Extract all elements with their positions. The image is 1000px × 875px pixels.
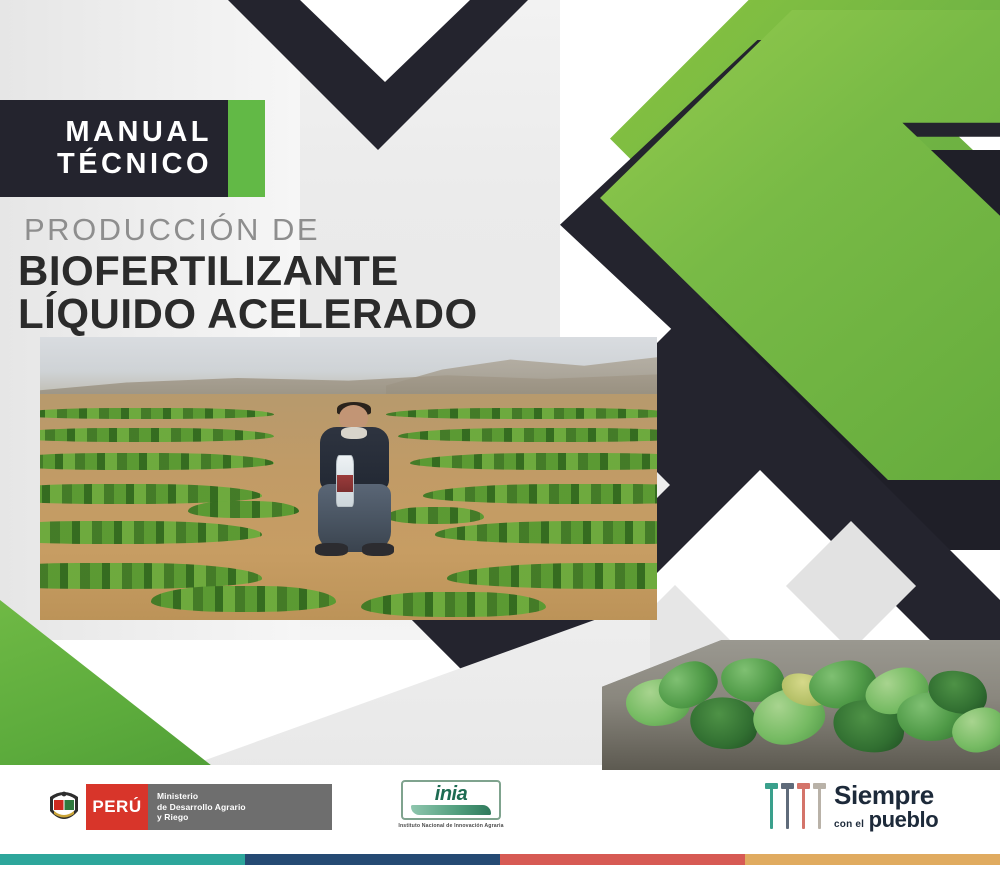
peru-shield-icon	[42, 784, 86, 830]
farmer-collar	[341, 427, 367, 439]
cover-title-block: PRODUCCIÓN DE BIOFERTILIZANTE LÍQUIDO AC…	[18, 214, 478, 335]
ministerio-line-3: y Riego	[157, 812, 332, 822]
crop-row	[151, 586, 336, 611]
siempre-line-1: Siempre	[834, 782, 938, 808]
peru-wordmark: PERÚ	[92, 797, 141, 817]
crop-row	[188, 501, 299, 518]
crop-row	[40, 521, 262, 544]
crop-row	[410, 453, 657, 470]
book-cover: MANUAL TÉCNICO PRODUCCIÓN DE BIOFERTILIZ…	[0, 0, 1000, 875]
logo-siempre-con-el-pueblo: Siempre con el pueblo	[765, 782, 938, 831]
farmer-legs	[318, 484, 391, 552]
bottle-label	[337, 475, 353, 492]
siempre-small-text: con el	[834, 819, 864, 830]
logo-inia: inia Instituto Nacional de Innovación Ag…	[396, 780, 506, 829]
color-rule-segment-gold	[745, 854, 1000, 865]
inia-leaf-icon	[411, 805, 491, 815]
color-rule-segment-red	[500, 854, 745, 865]
field-photo	[40, 337, 657, 620]
badge-dark-panel: MANUAL TÉCNICO	[0, 100, 228, 197]
manual-tecnico-badge: MANUAL TÉCNICO	[0, 100, 265, 197]
farmer-figure	[311, 405, 397, 552]
crop-row	[40, 563, 262, 588]
inia-mark: inia	[401, 780, 501, 820]
crop-row	[40, 408, 274, 419]
siempre-stroke	[765, 783, 778, 829]
crop-row	[386, 408, 657, 419]
title-line-2: LÍQUIDO ACELERADO	[18, 292, 478, 335]
crop-row	[423, 484, 657, 504]
badge-line-1: MANUAL	[65, 117, 212, 148]
siempre-strokes-icon	[765, 783, 826, 831]
title-subtitle: PRODUCCIÓN DE	[24, 214, 478, 247]
title-line-1: BIOFERTILIZANTE	[18, 249, 478, 292]
peru-wordmark-block: PERÚ	[86, 784, 148, 830]
inia-subtitle: Instituto Nacional de Innovación Agraria	[396, 823, 506, 829]
footer-logo-bar: PERÚ Ministerio de Desarrollo Agrario y …	[0, 770, 1000, 850]
inia-wordmark: inia	[403, 784, 499, 804]
footer-color-rule	[0, 854, 1000, 865]
badge-line-2: TÉCNICO	[57, 149, 212, 180]
ministerio-block: Ministerio de Desarrollo Agrario y Riego	[148, 784, 332, 830]
siempre-big-text: pueblo	[869, 807, 939, 832]
color-rule-segment-teal	[0, 854, 245, 865]
crop-row	[40, 428, 274, 442]
crop-row	[398, 428, 657, 442]
siempre-stroke	[813, 783, 826, 829]
biofertilizer-bottle	[336, 455, 354, 507]
siempre-line-2: con el pueblo	[834, 809, 938, 831]
crop-row	[40, 453, 274, 470]
siempre-text-block: Siempre con el pueblo	[834, 782, 938, 831]
farmer-shoe-left	[315, 543, 348, 556]
siempre-stroke	[797, 783, 810, 829]
ministerio-line-1: Ministerio	[157, 791, 332, 801]
logo-peru-ministerio: PERÚ Ministerio de Desarrollo Agrario y …	[42, 784, 332, 830]
crop-row	[386, 507, 485, 524]
ministerio-line-2: de Desarrollo Agrario	[157, 802, 332, 812]
siempre-stroke	[781, 783, 794, 829]
farmer-shoe-right	[362, 543, 395, 556]
crop-row	[361, 592, 546, 617]
badge-green-accent	[228, 100, 265, 197]
color-rule-segment-navy	[245, 854, 500, 865]
